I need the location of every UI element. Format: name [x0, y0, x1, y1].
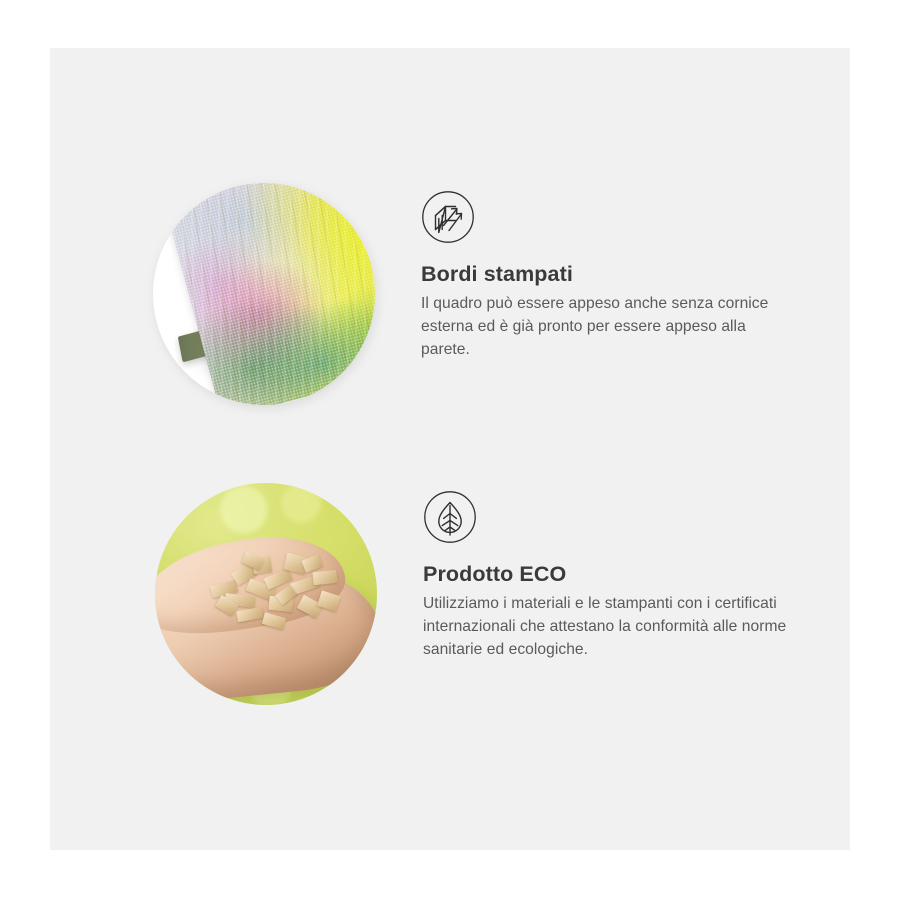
wood-chip-pile	[207, 549, 343, 635]
canvas-edge-photo	[153, 183, 375, 405]
feature-block-bordi-stampati: Bordi stampati Il quadro può essere appe…	[153, 183, 793, 405]
content-panel: Bordi stampati Il quadro può essere appe…	[50, 48, 850, 850]
product-feature-page: Bordi stampati Il quadro può essere appe…	[0, 0, 900, 900]
feature-title: Prodotto ECO	[423, 562, 795, 588]
feature-description: Utilizziamo i materiali e le stampanti c…	[423, 592, 795, 661]
feature-title: Bordi stampati	[421, 262, 793, 288]
eco-hands-wood-chips-photo	[155, 483, 377, 705]
feature-text-prodotto-eco: Prodotto ECO Utilizziamo i materiali e l…	[423, 483, 795, 661]
feature-text-bordi-stampati: Bordi stampati Il quadro può essere appe…	[421, 183, 793, 361]
leaf-icon	[423, 490, 477, 544]
feature-description: Il quadro può essere appeso anche senza …	[421, 292, 793, 361]
feature-block-prodotto-eco: Prodotto ECO Utilizziamo i materiali e l…	[155, 483, 795, 705]
printed-edges-icon	[421, 190, 475, 244]
